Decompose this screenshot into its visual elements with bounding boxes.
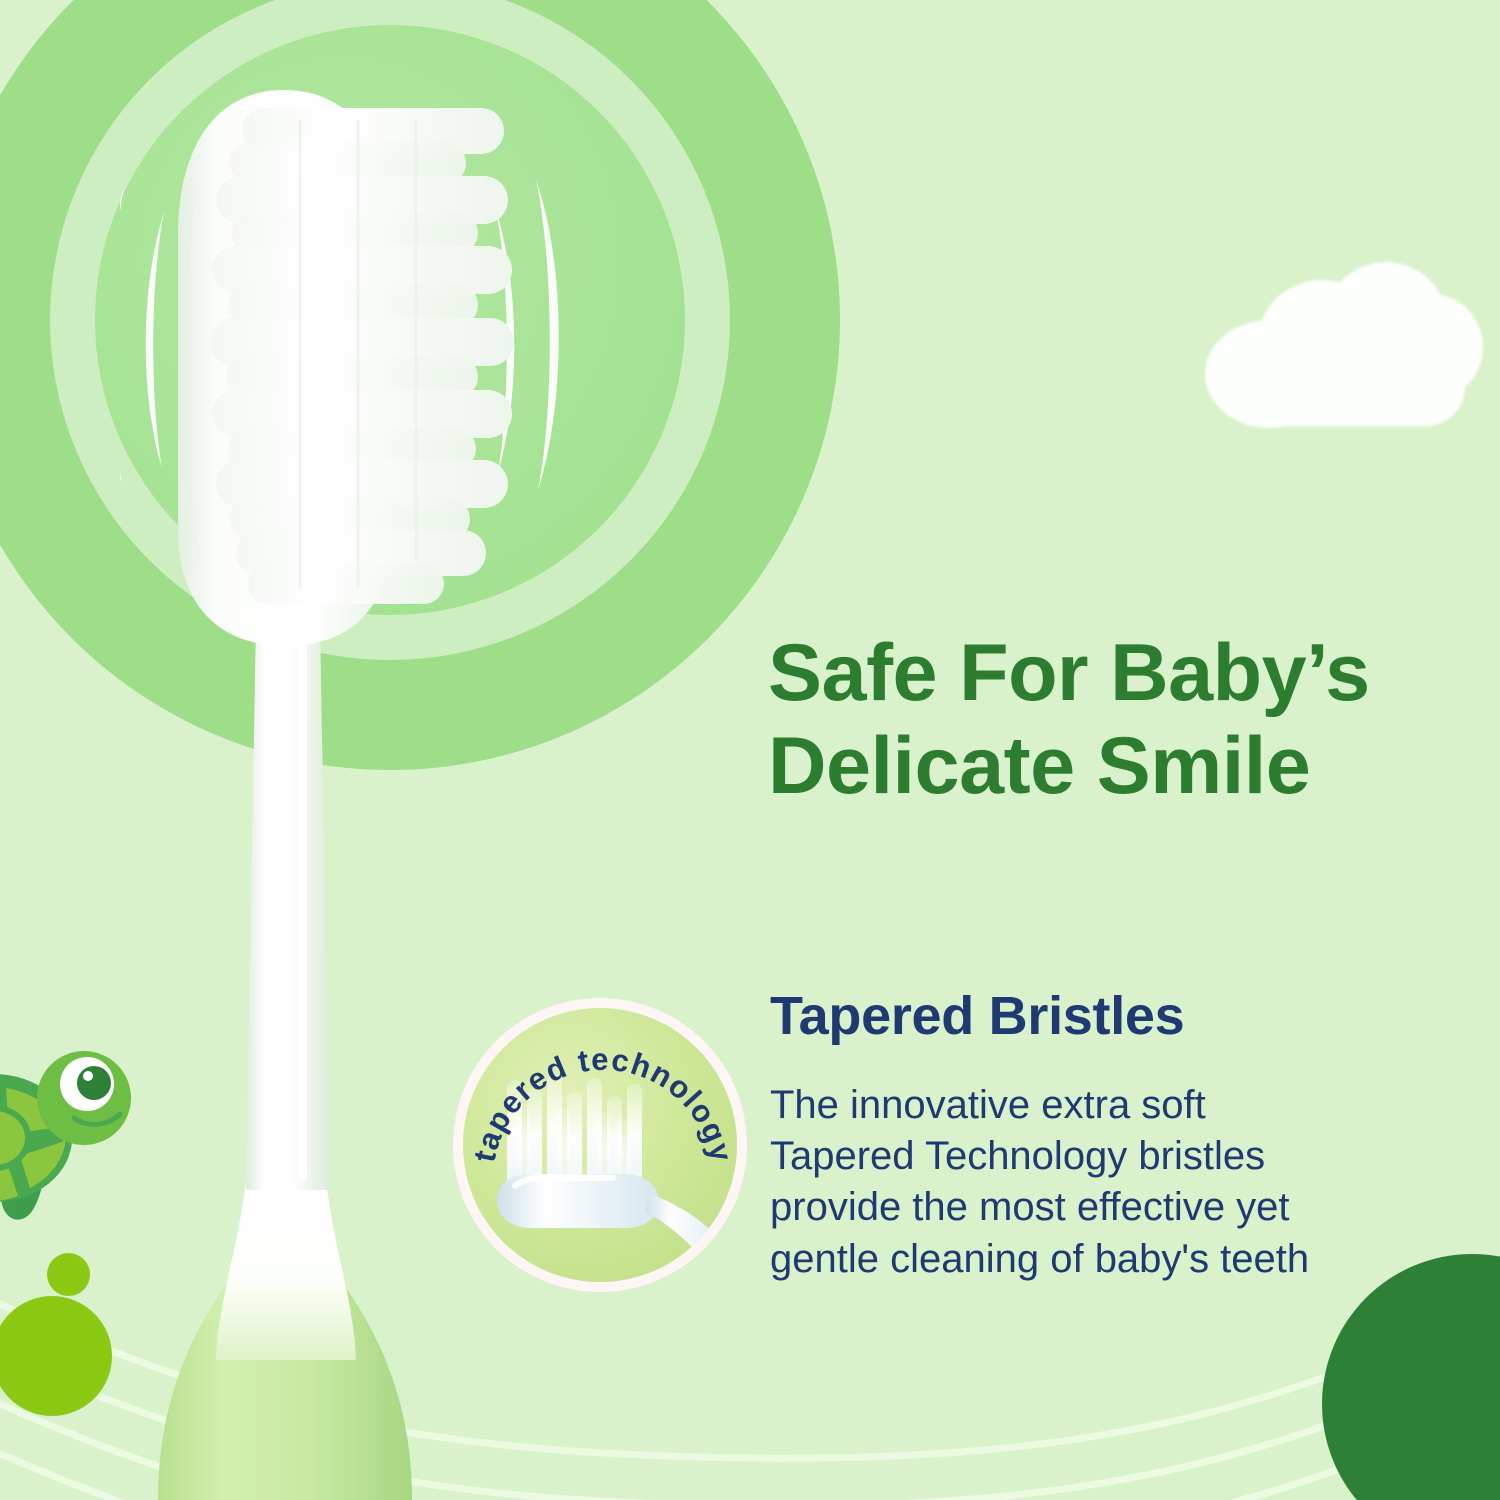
feature-title: Tapered Bristles xyxy=(770,985,1184,1047)
toothbrush-collar xyxy=(216,1180,356,1360)
cloud-icon xyxy=(1205,262,1483,437)
product-marketing-image: Safe For Baby’s Delicate Smile Tapered B… xyxy=(0,0,1500,1500)
feature-body-line-4: gentle cleaning of baby's teeth xyxy=(770,1234,1360,1285)
svg-text:tapered technology: tapered technology xyxy=(467,1042,737,1166)
tapered-technology-badge: tapered technology xyxy=(453,998,747,1292)
feature-body: The innovative extra soft Tapered Techno… xyxy=(770,1080,1360,1285)
green-bubble-small xyxy=(47,1253,90,1296)
feature-body-line-2: Tapered Technology bristles xyxy=(770,1131,1360,1182)
badge-face: tapered technology xyxy=(463,1008,737,1282)
headline-line-2: Delicate Smile xyxy=(768,720,1468,813)
vibration-arcs-left xyxy=(120,188,164,484)
toothbrush-bristles xyxy=(210,108,514,604)
feature-body-line-1: The innovative extra soft xyxy=(770,1080,1360,1131)
feature-body-line-3: provide the most effective yet xyxy=(770,1182,1360,1233)
toothbrush-neck xyxy=(246,620,330,1190)
headline-line-1: Safe For Baby’s xyxy=(768,627,1468,720)
badge-curved-text: tapered technology xyxy=(463,1008,737,1282)
headline: Safe For Baby’s Delicate Smile xyxy=(768,627,1468,813)
